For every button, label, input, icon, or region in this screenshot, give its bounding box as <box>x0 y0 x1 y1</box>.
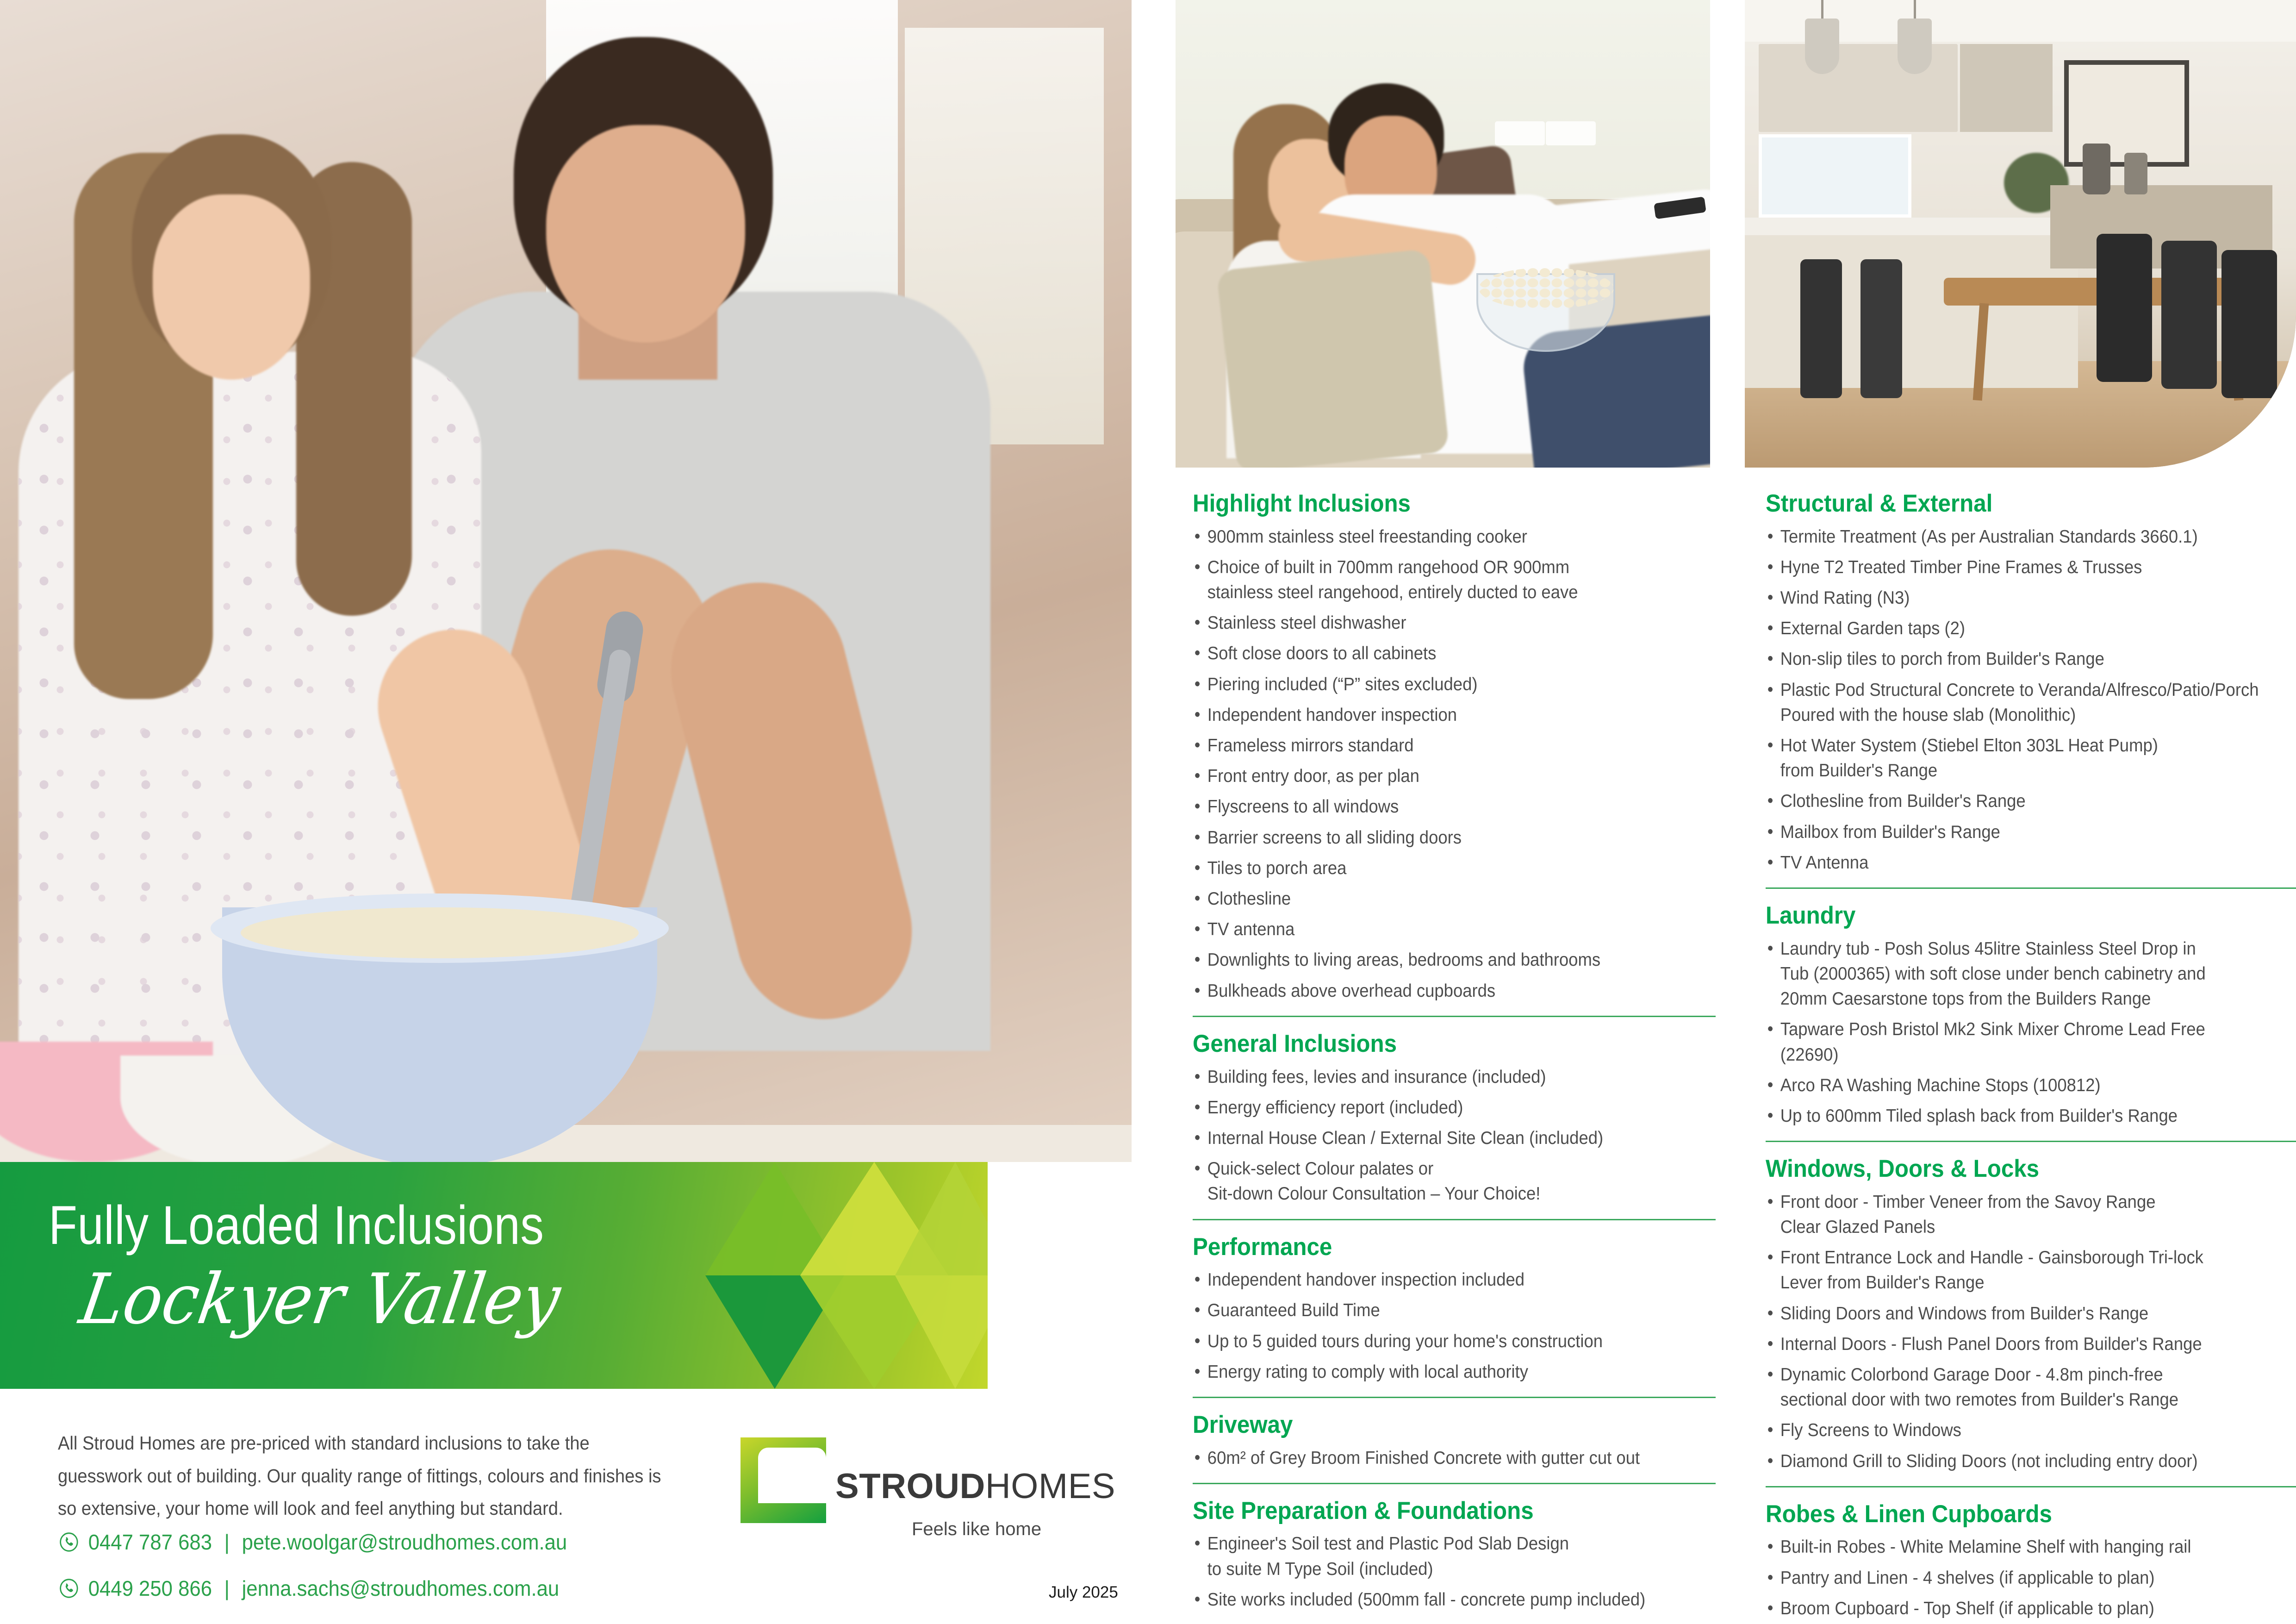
inclusion-item-continuation: to suite M Type Soil (included) <box>1207 1557 1682 1582</box>
logo-mark-icon <box>740 1437 826 1523</box>
inclusion-item: Wind Rating (N3) <box>1766 586 2262 611</box>
contact-row-1[interactable]: 0447 787 683 | pete.woolgar@stroudhomes.… <box>59 1530 567 1555</box>
inclusion-item: Independent handover inspection <box>1193 703 1682 728</box>
inclusion-item-continuation: Poured with the house slab (Monolithic) <box>1780 703 2262 728</box>
inclusion-list: Engineer's Soil test and Plastic Pod Sla… <box>1193 1531 1716 1612</box>
contact-email[interactable]: pete.woolgar@stroudhomes.com.au <box>242 1530 567 1555</box>
inclusion-list: Built-in Robes - White Melamine Shelf wi… <box>1766 1535 2296 1621</box>
inclusion-item-continuation: stainless steel rangehood, entirely duct… <box>1207 580 1682 605</box>
inclusion-item: Arco RA Washing Machine Stops (100812) <box>1766 1073 2262 1098</box>
inclusion-item: Frameless mirrors standard <box>1193 733 1682 758</box>
couple-watching-tv-photo <box>1176 0 1710 468</box>
inclusion-list: Building fees, levies and insurance (inc… <box>1193 1065 1716 1207</box>
section-driveway: Driveway60m² of Grey Broom Finished Conc… <box>1193 1412 1716 1484</box>
section-site-preparation-foundations: Site Preparation & FoundationsEngineer's… <box>1193 1498 1716 1612</box>
section-divider <box>1766 1141 2296 1142</box>
title-banner: Fully Loaded Inclusions Lockyer Valley <box>0 1162 988 1389</box>
right-inclusions-column: Structural & ExternalTermite Treatment (… <box>1766 491 2296 1624</box>
inclusion-item: Downlights to living areas, bedrooms and… <box>1193 948 1682 973</box>
logo-word-bold: STROUD <box>835 1467 985 1506</box>
inclusion-item: Front door - Timber Veneer from the Savo… <box>1766 1190 2262 1240</box>
logo-word-thin: HOMES <box>985 1467 1115 1506</box>
section-highlight-inclusions: Highlight Inclusions900mm stainless stee… <box>1193 491 1716 1017</box>
section-divider <box>1766 887 2296 889</box>
section-structural-external: Structural & ExternalTermite Treatment (… <box>1766 491 2296 889</box>
section-heading: Performance <box>1193 1234 1679 1260</box>
inclusion-list: Termite Treatment (As per Australian Sta… <box>1766 525 2296 875</box>
inclusion-item: TV antenna <box>1193 917 1682 942</box>
inclusion-list: 60m² of Grey Broom Finished Concrete wit… <box>1193 1446 1716 1471</box>
inclusion-item-continuation: from Builder's Range <box>1780 758 2262 783</box>
section-laundry: LaundryLaundry tub - Posh Solus 45litre … <box>1766 903 2296 1142</box>
inclusion-item: Building fees, levies and insurance (inc… <box>1193 1065 1682 1090</box>
inclusion-item: Built-in Robes - White Melamine Shelf wi… <box>1766 1535 2262 1560</box>
inclusion-item: 900mm stainless steel freestanding cooke… <box>1193 525 1682 550</box>
inclusion-item: Flyscreens to all windows <box>1193 794 1682 819</box>
inclusion-item: Choice of built in 700mm rangehood OR 90… <box>1193 555 1682 605</box>
section-divider <box>1766 1486 2296 1487</box>
inclusion-item: Up to 5 guided tours during your home's … <box>1193 1329 1682 1354</box>
inclusion-item: Barrier screens to all sliding doors <box>1193 825 1682 850</box>
inclusion-item: Quick-select Colour palates orSit-down C… <box>1193 1156 1682 1206</box>
section-robes-linen-cupboards: Robes & Linen CupboardsBuilt-in Robes - … <box>1766 1501 2296 1621</box>
inclusion-item: Site works included (500mm fall - concre… <box>1193 1587 1682 1612</box>
inclusion-item: Front Entrance Lock and Handle - Gainsbo… <box>1766 1245 2262 1295</box>
inclusion-item: Stainless steel dishwasher <box>1193 611 1682 636</box>
contact-phone[interactable]: 0449 250 866 <box>88 1576 212 1601</box>
contact-email[interactable]: jenna.sachs@stroudhomes.com.au <box>242 1576 560 1601</box>
intro-blurb: All Stroud Homes are pre-priced with sta… <box>58 1427 678 1525</box>
section-divider <box>1193 1483 1716 1484</box>
inclusion-item: Bulkheads above overhead cupboards <box>1193 979 1682 1004</box>
inclusion-item: Piering included (“P” sites excluded) <box>1193 672 1682 697</box>
inclusion-item: Independent handover inspection included <box>1193 1268 1682 1293</box>
inclusion-item: Energy rating to comply with local autho… <box>1193 1360 1682 1385</box>
hero-photo-scene <box>0 0 1132 1162</box>
inclusion-item-continuation: sectional door with two remotes from Bui… <box>1780 1387 2262 1412</box>
contact-separator: | <box>224 1576 230 1601</box>
date-stamp: July 2025 <box>1049 1583 1118 1602</box>
section-heading: Robes & Linen Cupboards <box>1766 1501 2259 1527</box>
banner-title: Fully Loaded Inclusions <box>49 1198 544 1253</box>
section-heading: Structural & External <box>1766 491 2259 517</box>
inclusion-item: Mailbox from Builder's Range <box>1766 820 2262 845</box>
inclusion-item: Energy efficiency report (included) <box>1193 1095 1682 1120</box>
contact-separator: | <box>224 1530 230 1555</box>
section-windows-doors-locks: Windows, Doors & LocksFront door - Timbe… <box>1766 1156 2296 1487</box>
inclusion-item-continuation: Lever from Builder's Range <box>1780 1270 2262 1295</box>
middle-inclusions-column: Highlight Inclusions900mm stainless stee… <box>1193 491 1716 1618</box>
kitchen-dining-photo <box>1745 0 2296 468</box>
inclusion-item: Clothesline <box>1193 887 1682 912</box>
phone-icon <box>59 1578 79 1599</box>
inclusion-item: Internal Doors - Flush Panel Doors from … <box>1766 1332 2262 1357</box>
logo-tagline: Feels like home <box>912 1519 1041 1540</box>
inclusion-item: Sliding Doors and Windows from Builder's… <box>1766 1301 2262 1326</box>
section-general-inclusions: General InclusionsBuilding fees, levies … <box>1193 1031 1716 1220</box>
section-heading: Site Preparation & Foundations <box>1193 1498 1679 1524</box>
inclusion-item: Termite Treatment (As per Australian Sta… <box>1766 525 2262 550</box>
inclusion-item: Plastic Pod Structural Concrete to Veran… <box>1766 678 2262 728</box>
inclusion-item: Pantry and Linen - 4 shelves (if applica… <box>1766 1566 2262 1591</box>
section-heading: Laundry <box>1766 903 2259 929</box>
stroud-homes-logo: STROUDHOMES Feels like home <box>740 1437 1092 1572</box>
inclusion-item: Up to 600mm Tiled splash back from Build… <box>1766 1104 2262 1129</box>
section-heading: General Inclusions <box>1193 1031 1679 1057</box>
inclusion-item: Non-slip tiles to porch from Builder's R… <box>1766 647 2262 672</box>
inclusion-item: 60m² of Grey Broom Finished Concrete wit… <box>1193 1446 1682 1471</box>
inclusion-item: Fly Screens to Windows <box>1766 1418 2262 1443</box>
inclusion-item: Hot Water System (Stiebel Elton 303L Hea… <box>1766 733 2262 783</box>
inclusion-list: Front door - Timber Veneer from the Savo… <box>1766 1190 2296 1474</box>
inclusion-list: Independent handover inspection included… <box>1193 1268 1716 1385</box>
inclusion-item: Tapware Posh Bristol Mk2 Sink Mixer Chro… <box>1766 1017 2262 1067</box>
inclusion-item: Hyne T2 Treated Timber Pine Frames & Tru… <box>1766 555 2262 580</box>
inclusion-item: Dynamic Colorbond Garage Door - 4.8m pin… <box>1766 1362 2262 1412</box>
inclusion-list: 900mm stainless steel freestanding cooke… <box>1193 525 1716 1004</box>
section-heading: Highlight Inclusions <box>1193 491 1679 517</box>
phone-icon <box>59 1532 79 1552</box>
section-divider <box>1193 1219 1716 1220</box>
inclusion-item-continuation: Sit-down Colour Consultation – Your Choi… <box>1207 1181 1682 1206</box>
brochure-page: Fully Loaded Inclusions Lockyer Valley A… <box>0 0 2296 1624</box>
inclusion-item: Tiles to porch area <box>1193 856 1682 881</box>
hero-baking-photo <box>0 0 1132 1162</box>
inclusion-item-continuation: 20mm Caesarstone tops from the Builders … <box>1780 987 2262 1012</box>
section-heading: Windows, Doors & Locks <box>1766 1156 2259 1182</box>
inclusion-item: Broom Cupboard - Top Shelf (if applicabl… <box>1766 1596 2262 1621</box>
section-divider <box>1193 1016 1716 1017</box>
inclusion-item: Soft close doors to all cabinets <box>1193 641 1682 666</box>
section-performance: PerformanceIndependent handover inspecti… <box>1193 1234 1716 1398</box>
inclusion-item: Clothesline from Builder's Range <box>1766 789 2262 814</box>
logo-wordmark: STROUDHOMES <box>835 1469 1115 1504</box>
inclusion-item: Front entry door, as per plan <box>1193 764 1682 789</box>
inclusion-item: External Garden taps (2) <box>1766 616 2262 641</box>
chevron-pattern-graphic <box>701 1162 988 1389</box>
inclusion-list: Laundry tub - Posh Solus 45litre Stainle… <box>1766 937 2296 1129</box>
contact-row-2[interactable]: 0449 250 866 | jenna.sachs@stroudhomes.c… <box>59 1576 559 1601</box>
inclusion-item: Internal House Clean / External Site Cle… <box>1193 1126 1682 1151</box>
banner-subtitle: Lockyer Valley <box>75 1265 565 1334</box>
inclusion-item-continuation: Clear Glazed Panels <box>1780 1215 2262 1240</box>
inclusion-item: Diamond Grill to Sliding Doors (not incl… <box>1766 1449 2262 1474</box>
section-heading: Driveway <box>1193 1412 1679 1438</box>
inclusion-item: Laundry tub - Posh Solus 45litre Stainle… <box>1766 937 2262 1012</box>
inclusion-item-continuation: Tub (2000365) with soft close under benc… <box>1780 962 2262 987</box>
section-divider <box>1193 1397 1716 1398</box>
inclusion-item: Guaranteed Build Time <box>1193 1298 1682 1323</box>
inclusion-item: TV Antenna <box>1766 850 2262 875</box>
inclusion-item: Engineer's Soil test and Plastic Pod Sla… <box>1193 1531 1682 1581</box>
contact-phone[interactable]: 0447 787 683 <box>88 1530 212 1555</box>
